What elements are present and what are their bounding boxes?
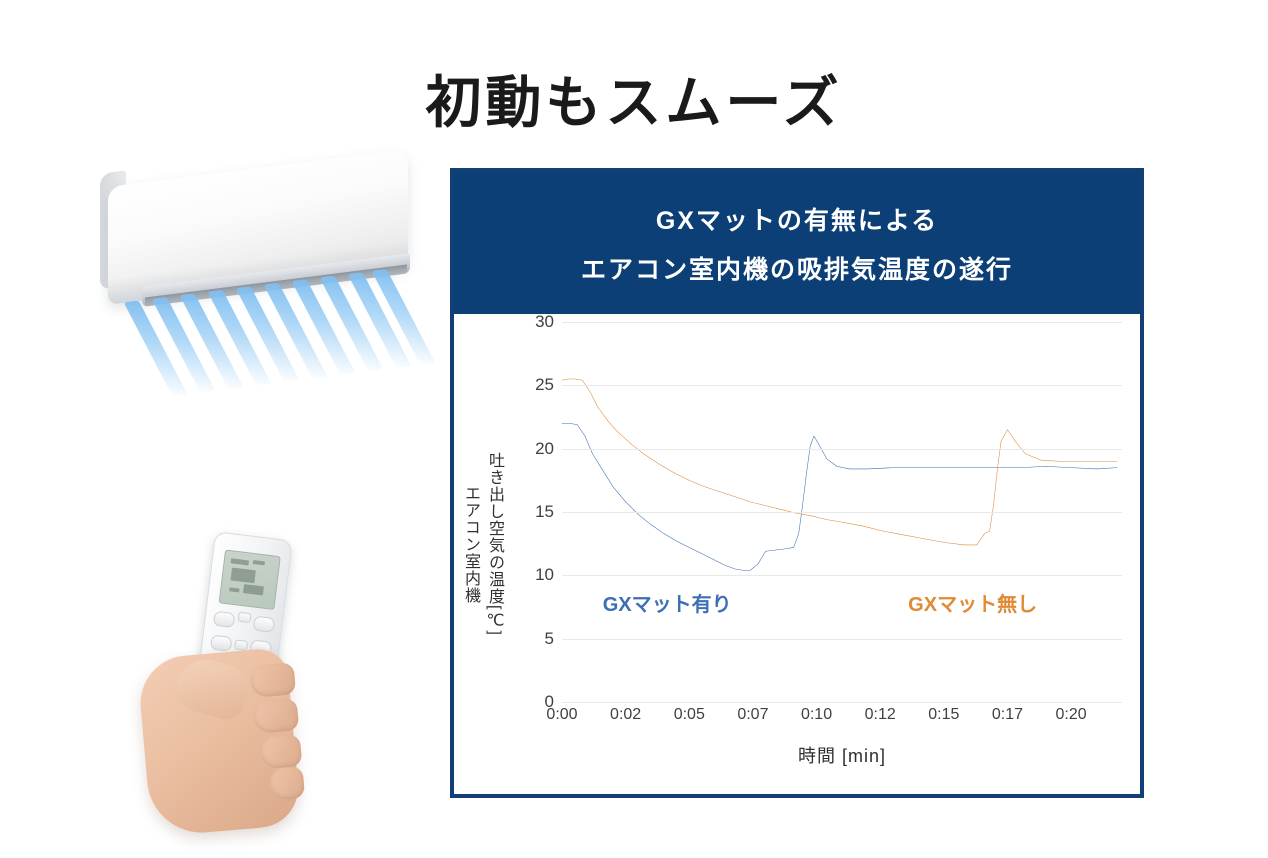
finger-4 bbox=[269, 766, 306, 801]
finger-1 bbox=[249, 662, 296, 698]
y-axis-title-line-2: 吐き出し空気の温度[℃] bbox=[482, 452, 506, 636]
remote-button-3 bbox=[210, 634, 233, 651]
x-axis-tick-label: 0:05 bbox=[674, 706, 705, 724]
y-axis-tick-label: 15 bbox=[535, 502, 554, 522]
gridline bbox=[562, 322, 1122, 323]
y-axis-tick-label: 20 bbox=[535, 439, 554, 459]
remote-button-2 bbox=[253, 616, 276, 633]
gridline bbox=[562, 639, 1122, 640]
x-axis-tick-label: 0:12 bbox=[865, 706, 896, 724]
plot-area: 3025201510500:000:020:050:070:100:120:15… bbox=[562, 322, 1122, 702]
remote-button-1 bbox=[213, 611, 236, 628]
air-conditioner-image bbox=[90, 150, 420, 340]
page-title: 初動もスムーズ bbox=[0, 58, 1268, 139]
y-axis-tick-label: 30 bbox=[535, 312, 554, 332]
x-axis-tick-label: 0:17 bbox=[992, 706, 1023, 724]
chart-area: エアコン室内機 吐き出し空気の温度[℃] 3025201510500:000:0… bbox=[454, 314, 1140, 794]
chart-header-line-2: エアコン室内機の吸排気温度の遂行 bbox=[581, 250, 1013, 286]
chart-header: GXマットの有無による エアコン室内機の吸排気温度の遂行 bbox=[454, 172, 1140, 314]
product-photo-column bbox=[60, 140, 440, 830]
hand bbox=[137, 647, 302, 837]
gridline bbox=[562, 385, 1122, 386]
chart-header-line-1: GXマットの有無による bbox=[656, 201, 938, 237]
x-axis-tick-label: 0:02 bbox=[610, 706, 641, 724]
remote-control-image bbox=[120, 535, 370, 830]
y-axis-title: エアコン室内機 吐き出し空気の温度[℃] bbox=[456, 344, 508, 744]
series-line bbox=[562, 423, 1117, 570]
remote-lcd-screen bbox=[219, 550, 281, 610]
x-axis-tick-label: 0:00 bbox=[546, 706, 577, 724]
finger-3 bbox=[260, 734, 303, 769]
x-axis-tick-label: 0:07 bbox=[737, 706, 768, 724]
series-annotation-label: GXマット無し bbox=[908, 588, 1037, 617]
y-axis-tick-label: 10 bbox=[535, 565, 554, 585]
gridline bbox=[562, 702, 1122, 703]
chart-panel: GXマットの有無による エアコン室内機の吸排気温度の遂行 エアコン室内機 吐き出… bbox=[450, 168, 1144, 798]
x-axis-tick-label: 0:15 bbox=[928, 706, 959, 724]
gridline bbox=[562, 575, 1122, 576]
gridline bbox=[562, 512, 1122, 513]
y-axis-tick-label: 5 bbox=[545, 629, 554, 649]
x-axis-tick-label: 0:10 bbox=[801, 706, 832, 724]
series-annotation-label: GXマット有り bbox=[603, 588, 732, 617]
gridline bbox=[562, 449, 1122, 450]
x-axis-tick-label: 0:20 bbox=[1056, 706, 1087, 724]
y-axis-tick-label: 25 bbox=[535, 375, 554, 395]
finger-2 bbox=[253, 698, 300, 734]
thumb bbox=[172, 653, 254, 723]
y-axis-title-line-1: エアコン室内機 bbox=[458, 485, 482, 604]
remote-arrow-up-icon bbox=[237, 612, 251, 624]
x-axis-title: 時間 [min] bbox=[562, 742, 1122, 768]
remote-arrow-down-icon bbox=[234, 639, 248, 651]
